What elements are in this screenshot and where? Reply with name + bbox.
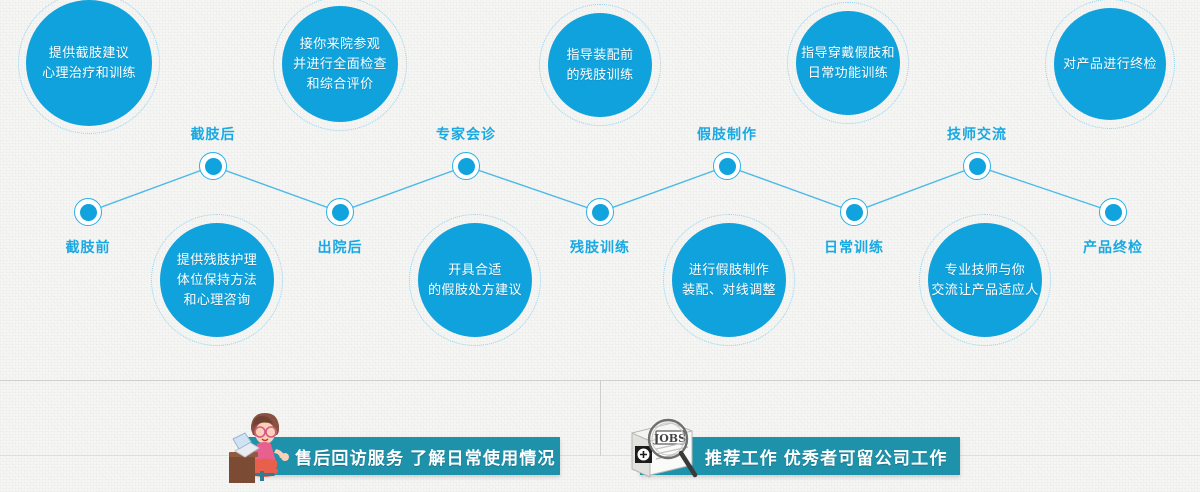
- bubble-prosthesis-making[interactable]: 指导穿戴假肢和日常功能训练: [796, 11, 900, 115]
- banner-job-referral[interactable]: 推荐工作 优秀者可留公司工作: [640, 437, 960, 475]
- bubble-text-line: 日常功能训练: [808, 63, 888, 83]
- bubble-text-line: 的假肢处方建议: [428, 280, 522, 300]
- bubble-text-line: 开具合适: [448, 260, 502, 280]
- timeline-node-7[interactable]: [840, 198, 868, 226]
- bubble-text-line: 提供残肢护理: [177, 250, 257, 270]
- timeline-node-1[interactable]: [74, 198, 102, 226]
- bubble-text-line: 指导穿戴假肢和: [801, 43, 895, 63]
- timeline-node-label-2: 截肢后: [191, 124, 236, 144]
- timeline-node-6[interactable]: [713, 152, 741, 180]
- bubble-text-line: 并进行全面检查: [293, 54, 387, 74]
- timeline-node-label-1: 截肢前: [66, 237, 111, 257]
- timeline-node-label-5: 残肢训练: [570, 237, 630, 257]
- bubble-text-line: 专业技师与你: [945, 260, 1025, 280]
- timeline-node-5[interactable]: [586, 198, 614, 226]
- timeline-node-3[interactable]: [326, 198, 354, 226]
- bubble-final-inspection[interactable]: 对产品进行终检: [1054, 8, 1166, 120]
- bubble-text-line: 体位保持方法: [177, 270, 257, 290]
- timeline-node-label-9: 产品终检: [1083, 237, 1143, 257]
- bubble-expert-consult[interactable]: 指导装配前的残肢训练: [548, 13, 652, 117]
- bubble-text-line: 和综合评价: [306, 74, 373, 94]
- bubble-text-line: 和心理咨询: [183, 290, 250, 310]
- timeline-node-2[interactable]: [199, 152, 227, 180]
- bubble-post-amputation[interactable]: 接你来院参观并进行全面检查和综合评价: [282, 6, 398, 122]
- bubble-pre-amputation[interactable]: 提供截肢建议心理治疗和训练: [26, 0, 152, 126]
- bubble-text-line: 接你来院参观: [300, 34, 380, 54]
- bubble-text-line: 装配、对线调整: [682, 280, 776, 300]
- banner-after-sales-label: 售后回访服务 了解日常使用情况: [295, 444, 556, 469]
- timeline-node-label-6: 假肢制作: [697, 124, 757, 144]
- timeline-node-4[interactable]: [452, 152, 480, 180]
- timeline-node-label-3: 出院后: [318, 237, 363, 257]
- bubble-text-line: 交流让产品适应人: [931, 280, 1038, 300]
- timeline-node-label-7: 日常训练: [824, 237, 884, 257]
- timeline-node-label-8: 技师交流: [947, 124, 1007, 144]
- bubble-text-line: 进行假肢制作: [689, 260, 769, 280]
- flowchart-page: 提供截肢建议心理治疗和训练接你来院参观并进行全面检查和综合评价指导装配前的残肢训…: [0, 0, 1200, 492]
- timeline-node-9[interactable]: [1099, 198, 1127, 226]
- bubble-text-line: 指导装配前: [566, 45, 633, 65]
- bubble-discharge-care[interactable]: 提供残肢护理体位保持方法和心理咨询: [160, 223, 274, 337]
- timeline-node-label-4: 专家会诊: [436, 124, 496, 144]
- bubble-technician-exchange[interactable]: 专业技师与你交流让产品适应人: [928, 223, 1042, 337]
- bubble-assembly[interactable]: 进行假肢制作装配、对线调整: [672, 223, 786, 337]
- bubble-prescription[interactable]: 开具合适的假肢处方建议: [418, 223, 532, 337]
- bubble-text-line: 提供截肢建议: [49, 43, 129, 63]
- timeline-node-8[interactable]: [963, 152, 991, 180]
- bubble-text-line: 心理治疗和训练: [42, 63, 136, 83]
- bubble-text-line: 对产品进行终检: [1063, 54, 1157, 74]
- bubble-text-line: 的残肢训练: [566, 65, 633, 85]
- banner-job-referral-label: 推荐工作 优秀者可留公司工作: [705, 444, 948, 469]
- banner-after-sales[interactable]: 售后回访服务 了解日常使用情况: [240, 437, 560, 475]
- divider-vertical-center: [600, 380, 601, 456]
